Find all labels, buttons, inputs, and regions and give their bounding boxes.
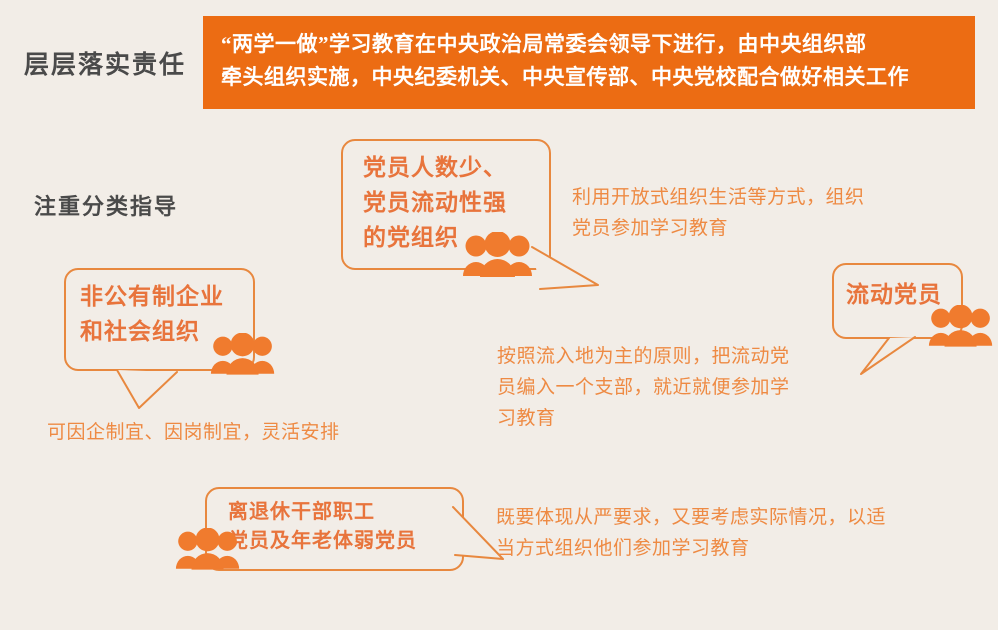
bubble-non-public-enterprise-line-1: 非公有制企业	[80, 277, 224, 311]
bubble-mobile-party-member-line-1: 流动党员	[846, 275, 942, 309]
section-label-classified-guidance: 注重分类指导	[34, 189, 178, 221]
section-label-responsibility: 层层落实责任	[24, 45, 186, 81]
policy-banner: “两学一做”学习教育在中央政治局常委会领导下进行，由中央组织部 牵头组织实施，中…	[203, 16, 975, 109]
people-group-icon	[210, 333, 276, 376]
bubble-retired-elderly-line-1: 离退休干部职工	[228, 495, 375, 524]
bubble-party-org-line-2: 党员流动性强	[363, 183, 507, 217]
body-retired-elderly: 既要体现从严要求，又要考虑实际情况，以适 当方式组织他们参加学习教育	[496, 502, 886, 564]
bubble-mobile-party-member-tail	[855, 334, 923, 378]
people-group-icon	[462, 232, 534, 278]
infographic-canvas: 层层落实责任 “两学一做”学习教育在中央政治局常委会领导下进行，由中央组织部 牵…	[0, 0, 998, 630]
banner-line-1: “两学一做”学习教育在中央政治局常委会领导下进行，由中央组织部	[221, 28, 959, 61]
bubble-retired-elderly-line-2: 党员及年老体弱党员	[228, 524, 417, 553]
body-party-org-line-1: 利用开放式组织生活等方式，组织	[572, 182, 865, 213]
bubble-party-org-line-1: 党员人数少、	[363, 148, 507, 182]
people-group-icon	[928, 305, 994, 348]
body-mobile-party-member-line-1: 按照流入地为主的原则，把流动党	[497, 341, 790, 372]
body-non-public-enterprise: 可因企制宜、因岗制宜，灵活安排	[47, 417, 340, 448]
body-mobile-party-member-line-3: 习教育	[497, 403, 790, 434]
bubble-party-org-tail	[528, 245, 608, 295]
body-party-org-line-2: 党员参加学习教育	[572, 213, 865, 244]
body-mobile-party-member: 按照流入地为主的原则，把流动党 员编入一个支部，就近就便参加学 习教育	[497, 341, 790, 434]
bubble-non-public-enterprise-tail	[115, 366, 185, 412]
people-group-icon	[175, 528, 241, 571]
banner-line-2: 牵头组织实施，中央纪委机关、中央宣传部、中央党校配合做好相关工作	[221, 61, 959, 94]
body-retired-elderly-line-1: 既要体现从严要求，又要考虑实际情况，以适	[496, 502, 886, 533]
body-mobile-party-member-line-2: 员编入一个支部，就近就便参加学	[497, 372, 790, 403]
bubble-non-public-enterprise-line-2: 和社会组织	[80, 312, 200, 346]
body-retired-elderly-line-2: 当方式组织他们参加学习教育	[496, 533, 886, 564]
body-party-org: 利用开放式组织生活等方式，组织 党员参加学习教育	[572, 182, 865, 244]
body-non-public-enterprise-line-1: 可因企制宜、因岗制宜，灵活安排	[47, 417, 340, 448]
bubble-party-org-line-3: 的党组织	[363, 218, 459, 252]
